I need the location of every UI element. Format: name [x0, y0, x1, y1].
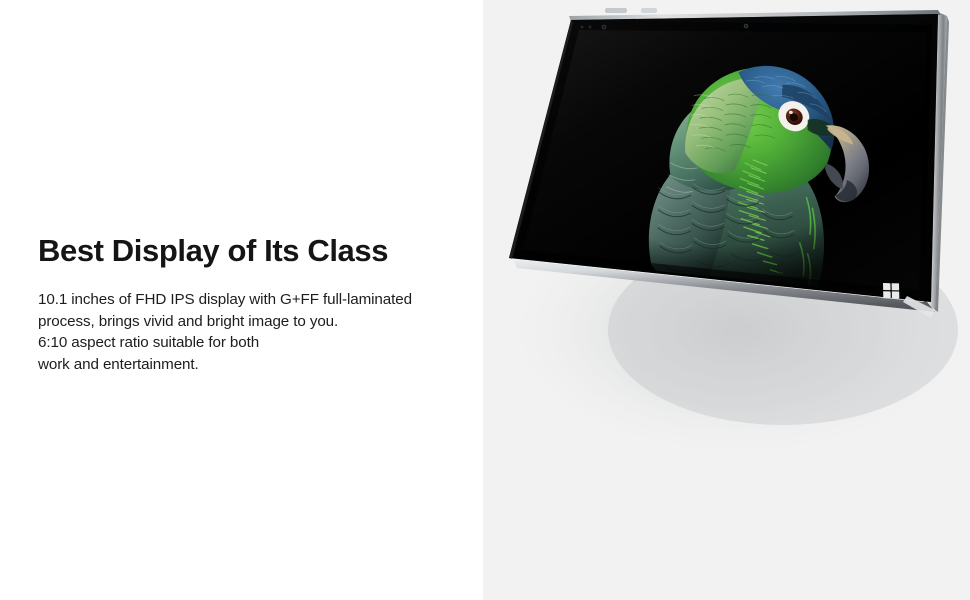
sensor-dot-1	[581, 26, 584, 29]
device-top-button[interactable]	[605, 8, 627, 13]
page-title: Best Display of Its Class	[38, 234, 468, 268]
copy-block: Best Display of Its Class 10.1 inches of…	[38, 234, 468, 375]
description-line-4: work and entertainment.	[38, 354, 468, 376]
sensor-dot-2	[589, 26, 592, 29]
description-line-2: process, brings vivid and bright image t…	[38, 311, 468, 333]
device-top-port	[641, 8, 657, 13]
product-image	[483, 0, 970, 600]
description-text: 10.1 inches of FHD IPS display with G+FF…	[38, 289, 468, 375]
front-camera-center-lens	[745, 25, 747, 27]
promo-banner: Best Display of Its Class 10.1 inches of…	[0, 0, 970, 600]
description-line-3: 6:10 aspect ratio suitable for both	[38, 332, 468, 354]
description-line-1: 10.1 inches of FHD IPS display with G+FF…	[38, 289, 468, 311]
front-camera-lens	[603, 26, 605, 28]
